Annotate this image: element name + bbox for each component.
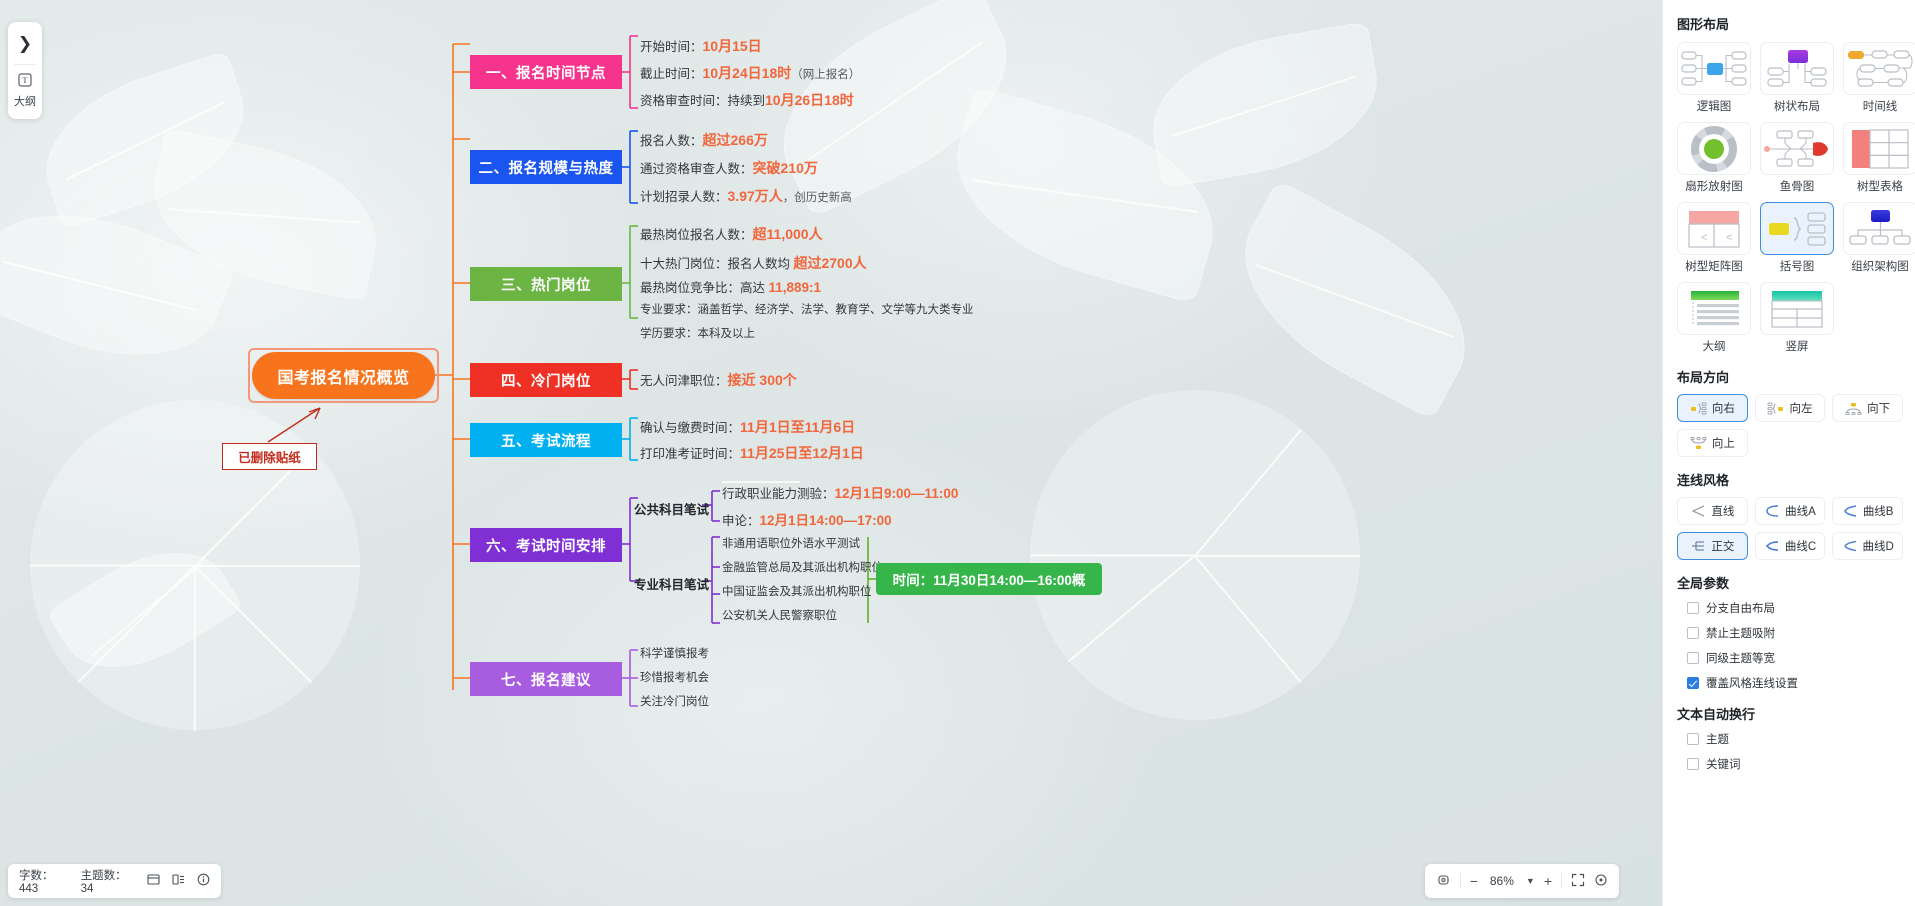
leaf-node[interactable]: 公安机关人民警察职位 (722, 610, 837, 624)
subgroup-label-public-exam[interactable]: 公共科目笔试 (634, 499, 709, 518)
org-chart-icon (1843, 202, 1915, 255)
layout-option-tree-label: 树状布局 (1760, 98, 1834, 114)
leaf-node[interactable]: 珍惜报考机会 (640, 672, 709, 686)
direction-option-up-label: 向上 (1712, 435, 1735, 451)
layout-thumb-grid: 逻辑图 树状布局 时间线 扇形放射图 鱼骨图 (1677, 42, 1903, 354)
leaf-value: 10月24日18时 (703, 65, 792, 81)
leaf-node[interactable]: 最热岗位竞争比：高达 11,889:1 (640, 280, 821, 296)
leaf-suffix: （网上报名） (791, 69, 860, 81)
leaf-node[interactable]: 打印准考证时间：11月25日至12月1日 (640, 445, 864, 462)
direction-option-down-label: 向下 (1867, 400, 1890, 416)
leaf-value: 11月25日至12月1日 (740, 445, 864, 461)
leaf-node[interactable]: 关注冷门岗位 (640, 696, 709, 710)
leaf-value: 12月1日14:00—17:00 (760, 513, 892, 528)
leaf-value: 10月15日 (703, 38, 762, 54)
line-style-option-straight[interactable]: 直线 (1677, 497, 1748, 525)
layout-option-fishbone-label: 鱼骨图 (1760, 178, 1834, 194)
curve-a-icon (1764, 505, 1780, 517)
leaf-prefix: 行政职业能力测验： (722, 487, 835, 501)
tree-matrix-icon: << (1677, 202, 1751, 255)
curve-c-icon (1764, 540, 1780, 552)
global-param-equal-width[interactable]: 同级主题等宽 (1687, 650, 1903, 666)
tree-layout-icon (1760, 42, 1834, 95)
line-style-option-straight-label: 直线 (1711, 503, 1734, 519)
svg-text:<: < (1726, 232, 1732, 244)
line-style-option-curve-d-label: 曲线D (1863, 538, 1894, 554)
line-style-option-orthogonal[interactable]: 正交 (1677, 532, 1748, 560)
divider (1561, 873, 1562, 889)
checkbox-icon[interactable] (1687, 677, 1699, 689)
leaf-node[interactable]: 非通用语职位外语水平测试 (722, 538, 860, 552)
layout-option-logic[interactable]: 逻辑图 (1677, 42, 1751, 114)
properties-panel: 图形布局 逻辑图 树状布局 时间线 扇形放射图 (1662, 0, 1915, 906)
leaf-value: 11,889:1 (768, 280, 821, 295)
wrap-param-topic-label: 主题 (1706, 731, 1729, 747)
layout-option-portrait[interactable]: 竖屏 (1760, 282, 1834, 354)
layout-option-org[interactable]: 组织架构图 (1843, 202, 1915, 274)
line-style-option-curve-c[interactable]: 曲线C (1755, 532, 1826, 560)
layout-option-bracket-label: 括号图 (1760, 258, 1834, 274)
status-bar: 字数：443 主题数：34 (8, 864, 221, 898)
zoom-toolbar: − 86% ▼ + (1425, 864, 1619, 898)
arrow-down-layout-icon (1845, 402, 1862, 415)
topic-count-label: 主题数：34 (81, 867, 135, 895)
checkbox-icon[interactable] (1687, 758, 1699, 770)
branch-node-4[interactable]: 四、冷门岗位 (470, 363, 622, 397)
line-style-option-orthogonal-label: 正交 (1711, 538, 1734, 554)
left-sidebar-rail: ❯ T 大纲 (8, 22, 42, 119)
layout-section-title: 图形布局 (1677, 14, 1903, 33)
layout-option-matrix-label: 树型矩阵图 (1677, 258, 1751, 274)
arrow-left-layout-icon (1767, 402, 1784, 415)
line-style-row-1: 直线 曲线A 曲线B (1677, 497, 1903, 525)
leaf-prefix: 打印准考证时间： (640, 447, 740, 461)
direction-option-right[interactable]: 向右 (1677, 394, 1748, 422)
leaf-node[interactable]: 申论：12月1日14:00—17:00 (722, 513, 892, 529)
global-param-branch-free-layout-label: 分支自由布局 (1706, 600, 1775, 616)
wrap-param-keyword[interactable]: 关键词 (1687, 756, 1903, 772)
layout-option-treetable-label: 树型表格 (1843, 178, 1915, 194)
line-style-option-curve-b[interactable]: 曲线B (1832, 497, 1903, 525)
curve-b-icon (1842, 505, 1858, 517)
direction-chip-row-1: 向右 向左 向下 (1677, 394, 1903, 422)
curve-d-icon (1842, 540, 1858, 552)
wrap-param-topic[interactable]: 主题 (1687, 731, 1903, 747)
tree-table-icon (1843, 122, 1915, 175)
leaf-node[interactable]: 无人问津职位：接近 300个 (640, 372, 797, 389)
expand-sidebar-icon[interactable]: ❯ (8, 28, 42, 64)
layout-option-timeline-label: 时间线 (1843, 98, 1915, 114)
bracket-diagram-icon (1760, 202, 1834, 255)
checkbox-icon[interactable] (1687, 733, 1699, 745)
leaf-prefix: 申论： (722, 514, 760, 528)
branch-node-2[interactable]: 二、报名规模与热度 (470, 150, 622, 184)
leaf-prefix: 计划招录人数： (640, 190, 728, 204)
layout-option-bracket[interactable]: 括号图 (1760, 202, 1834, 274)
chevron-down-icon[interactable]: ▼ (1526, 877, 1535, 886)
divider (14, 64, 36, 65)
leaf-node[interactable]: 报名人数：超过266万 (640, 132, 768, 149)
leaf-prefix: 十大热门岗位：报名人数均 (640, 257, 793, 271)
logic-diagram-icon (1677, 42, 1751, 95)
fit-icon[interactable] (1436, 873, 1451, 890)
line-style-option-curve-a[interactable]: 曲线A (1755, 497, 1826, 525)
branch-node-3[interactable]: 三、热门岗位 (470, 267, 622, 301)
checkbox-icon[interactable] (1687, 627, 1699, 639)
outline-layout-icon (1677, 282, 1751, 335)
arrow-right-layout-icon (1690, 402, 1707, 415)
leaf-node[interactable]: 金融监管总局及其派出机构职位 (722, 562, 883, 576)
leaf-node[interactable]: 科学谨慎报考 (640, 648, 709, 662)
layout-option-treetable[interactable]: 树型表格 (1843, 122, 1915, 194)
expand-icon[interactable] (1571, 873, 1585, 889)
leaf-node[interactable]: 十大热门岗位：报名人数均 超过2700人 (640, 255, 867, 272)
timeline-icon (1843, 42, 1915, 95)
zoom-out-button[interactable]: − (1470, 874, 1478, 888)
leaf-value: 超过266万 (703, 132, 768, 148)
direction-option-right-label: 向右 (1712, 400, 1735, 416)
leaf-prefix: 无人问津职位： (640, 374, 728, 388)
global-param-disable-snap-label: 禁止主题吸附 (1706, 625, 1775, 641)
leaf-value: 12月1日9:00—11:00 (835, 486, 959, 501)
line-style-option-curve-b-label: 曲线B (1863, 503, 1894, 519)
leaf-value: 10月26日18时 (765, 92, 854, 108)
branch-node-6[interactable]: 六、考试时间安排 (470, 528, 622, 562)
leaf-value: 11月1日至11月6日 (740, 419, 855, 435)
layout-option-tree[interactable]: 树状布局 (1760, 42, 1834, 114)
layout-option-outline-label: 大纲 (1677, 338, 1751, 354)
layout-option-logic-label: 逻辑图 (1677, 98, 1751, 114)
layout-option-fishbone[interactable]: 鱼骨图 (1760, 122, 1834, 194)
fan-radial-icon (1677, 122, 1751, 175)
global-param-equal-width-label: 同级主题等宽 (1706, 650, 1775, 666)
divider (1460, 873, 1461, 889)
global-params-section-title: 全局参数 (1677, 573, 1903, 592)
leaf-node[interactable]: 确认与缴费时间：11月1日至11月6日 (640, 419, 855, 436)
wrap-param-keyword-label: 关键词 (1706, 756, 1741, 772)
root-node[interactable]: 国考报名情况概览 (252, 352, 435, 399)
direction-chip-row-2: 向上 (1677, 429, 1903, 457)
deleted-sticker-note[interactable]: 已删除贴纸 (222, 443, 317, 470)
subgroup-label-major-exam[interactable]: 专业科目笔试 (634, 574, 709, 593)
leaf-node[interactable]: 学历要求：本科及以上 (640, 328, 755, 342)
line-style-section-title: 连线风格 (1677, 470, 1903, 489)
zoom-value[interactable]: 86% (1487, 874, 1517, 888)
leaf-prefix: 确认与缴费时间： (640, 421, 740, 435)
line-style-option-curve-a-label: 曲线A (1785, 503, 1816, 519)
mindmap-tree: 国考报名情况概览 已删除贴纸 一、报名时间节点 开始时间：10月15日 截止时间… (0, 0, 1662, 906)
leaf-node[interactable]: 截止时间：10月24日18时（网上报名） (640, 65, 860, 83)
checkbox-icon[interactable] (1687, 652, 1699, 664)
word-count-label: 字数：443 (19, 867, 69, 895)
orthogonal-line-icon (1690, 540, 1706, 552)
global-param-override-line-style[interactable]: 覆盖风格连线设置 (1687, 675, 1903, 691)
leaf-prefix: 通过资格审查人数： (640, 162, 753, 176)
leaf-prefix: 最热岗位竞争比：高达 (640, 281, 768, 295)
leaf-node[interactable]: 通过资格审查人数：突破210万 (640, 160, 818, 177)
leaf-node[interactable]: 最热岗位报名人数：超11,000人 (640, 226, 823, 243)
line-style-row-2: 正交 曲线C 曲线D (1677, 532, 1903, 560)
branch-node-7[interactable]: 七、报名建议 (470, 662, 622, 696)
leaf-node[interactable]: 中国证监会及其派出机构职位 (722, 586, 872, 600)
leaf-node[interactable]: 计划招录人数：3.97万人，创历史新高 (640, 188, 852, 206)
info-icon[interactable] (197, 873, 210, 889)
sidebar-item-outline-label: 大纲 (8, 93, 42, 113)
leaf-value: 3.97万人 (728, 188, 783, 204)
leaf-prefix: 报名人数： (640, 134, 703, 148)
straight-line-icon (1690, 505, 1706, 517)
exam-time-callout[interactable]: 时间：11月30日14:00—16:00概 (876, 563, 1102, 595)
leaf-prefix: 资格审查时间：持续到 (640, 94, 765, 108)
global-param-branch-free-layout[interactable]: 分支自由布局 (1687, 600, 1903, 616)
branch-node-1[interactable]: 一、报名时间节点 (470, 55, 622, 89)
svg-text:T: T (23, 76, 28, 85)
leaf-value: 接近 300个 (728, 372, 797, 388)
line-style-option-curve-c-label: 曲线C (1785, 538, 1816, 554)
line-style-option-curve-d[interactable]: 曲线D (1832, 532, 1903, 560)
branch-node-5[interactable]: 五、考试流程 (470, 423, 622, 457)
portrait-layout-icon (1760, 282, 1834, 335)
layout-option-outline[interactable]: 大纲 (1677, 282, 1751, 354)
direction-option-left[interactable]: 向左 (1755, 394, 1826, 422)
direction-section-title: 布局方向 (1677, 367, 1903, 386)
direction-option-up[interactable]: 向上 (1677, 429, 1748, 457)
sidebar-item-outline[interactable]: T 大纲 (8, 73, 42, 113)
global-param-override-line-style-label: 覆盖风格连线设置 (1706, 675, 1798, 691)
leaf-value: 突破210万 (753, 160, 818, 176)
outline-T-icon: T (8, 73, 42, 90)
leaf-value: 超过2700人 (793, 255, 866, 271)
zoom-in-button[interactable]: + (1544, 874, 1552, 888)
leaf-node[interactable]: 资格审查时间：持续到10月26日18时 (640, 92, 854, 109)
direction-option-down[interactable]: 向下 (1832, 394, 1903, 422)
note-icon[interactable] (147, 873, 160, 889)
arrow-up-layout-icon (1690, 437, 1707, 450)
global-param-disable-snap[interactable]: 禁止主题吸附 (1687, 625, 1903, 641)
svg-text:<: < (1701, 232, 1707, 244)
leaf-prefix: 截止时间： (640, 67, 703, 81)
leaf-suffix: ，创历史新高 (783, 192, 852, 204)
fishbone-icon (1760, 122, 1834, 175)
leaf-prefix: 最热岗位报名人数： (640, 228, 753, 242)
direction-option-left-label: 向左 (1789, 400, 1812, 416)
layout-option-fan-label: 扇形放射图 (1677, 178, 1751, 194)
leaf-node[interactable]: 开始时间：10月15日 (640, 38, 762, 55)
layout-option-matrix[interactable]: << 树型矩阵图 (1677, 202, 1751, 274)
leaf-prefix: 开始时间： (640, 40, 703, 54)
leaf-value: 超11,000人 (753, 226, 823, 242)
layout-option-portrait-label: 竖屏 (1760, 338, 1834, 354)
layout-option-org-label: 组织架构图 (1843, 258, 1915, 274)
layout-option-timeline[interactable]: 时间线 (1843, 42, 1915, 114)
outline-icon[interactable] (172, 873, 185, 889)
leaf-node[interactable]: 专业要求：涵盖哲学、经济学、法学、教育学、文学等九大类专业 (640, 304, 974, 318)
text-wrap-section-title: 文本自动换行 (1677, 704, 1903, 723)
leaf-node[interactable]: 行政职业能力测验：12月1日9:00—11:00 (722, 486, 958, 502)
target-icon[interactable] (1594, 873, 1608, 889)
layout-option-fan[interactable]: 扇形放射图 (1677, 122, 1751, 194)
checkbox-icon[interactable] (1687, 602, 1699, 614)
